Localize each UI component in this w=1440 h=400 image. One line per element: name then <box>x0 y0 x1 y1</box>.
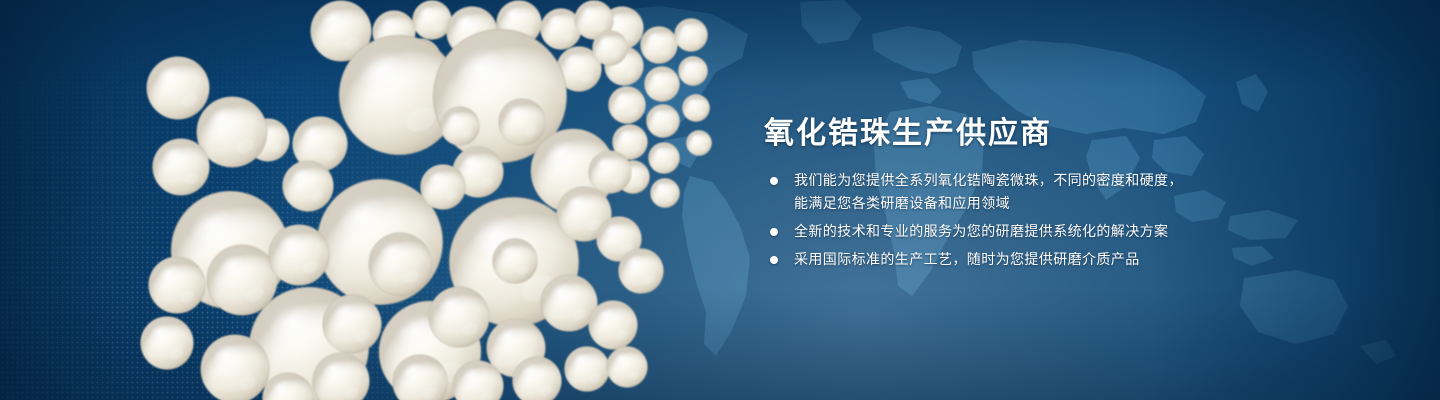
feature-text-line: 我们能为您提供全系列氧化锆陶瓷微珠，不同的密度和硬度， <box>794 169 1183 192</box>
feature-list-item: 全新的技术和专业的服务为您的研磨提供系统化的解决方案 <box>762 220 1183 243</box>
bullet-dot-icon <box>770 228 778 236</box>
hero-banner: 氧化锆珠生产供应商 我们能为您提供全系列氧化锆陶瓷微珠，不同的密度和硬度， 能满… <box>0 0 1440 400</box>
banner-headline: 氧化锆珠生产供应商 <box>764 108 1052 152</box>
zirconia-bead-cluster-image <box>0 0 720 400</box>
feature-list-item: 我们能为您提供全系列氧化锆陶瓷微珠，不同的密度和硬度， 能满足您各类研磨设备和应… <box>762 169 1183 215</box>
feature-list: 我们能为您提供全系列氧化锆陶瓷微珠，不同的密度和硬度， 能满足您各类研磨设备和应… <box>762 169 1183 271</box>
bullet-dot-icon <box>770 177 778 185</box>
bullet-dot-icon <box>770 256 778 264</box>
feature-text-line: 能满足您各类研磨设备和应用领域 <box>794 192 1183 215</box>
feature-text-line: 采用国际标准的生产工艺，随时为您提供研磨介质产品 <box>794 248 1183 271</box>
banner-copy: 氧化锆珠生产供应商 我们能为您提供全系列氧化锆陶瓷微珠，不同的密度和硬度， 能满… <box>762 0 1362 400</box>
feature-list-item: 采用国际标准的生产工艺，随时为您提供研磨介质产品 <box>762 248 1183 271</box>
feature-text-line: 全新的技术和专业的服务为您的研磨提供系统化的解决方案 <box>794 220 1183 243</box>
